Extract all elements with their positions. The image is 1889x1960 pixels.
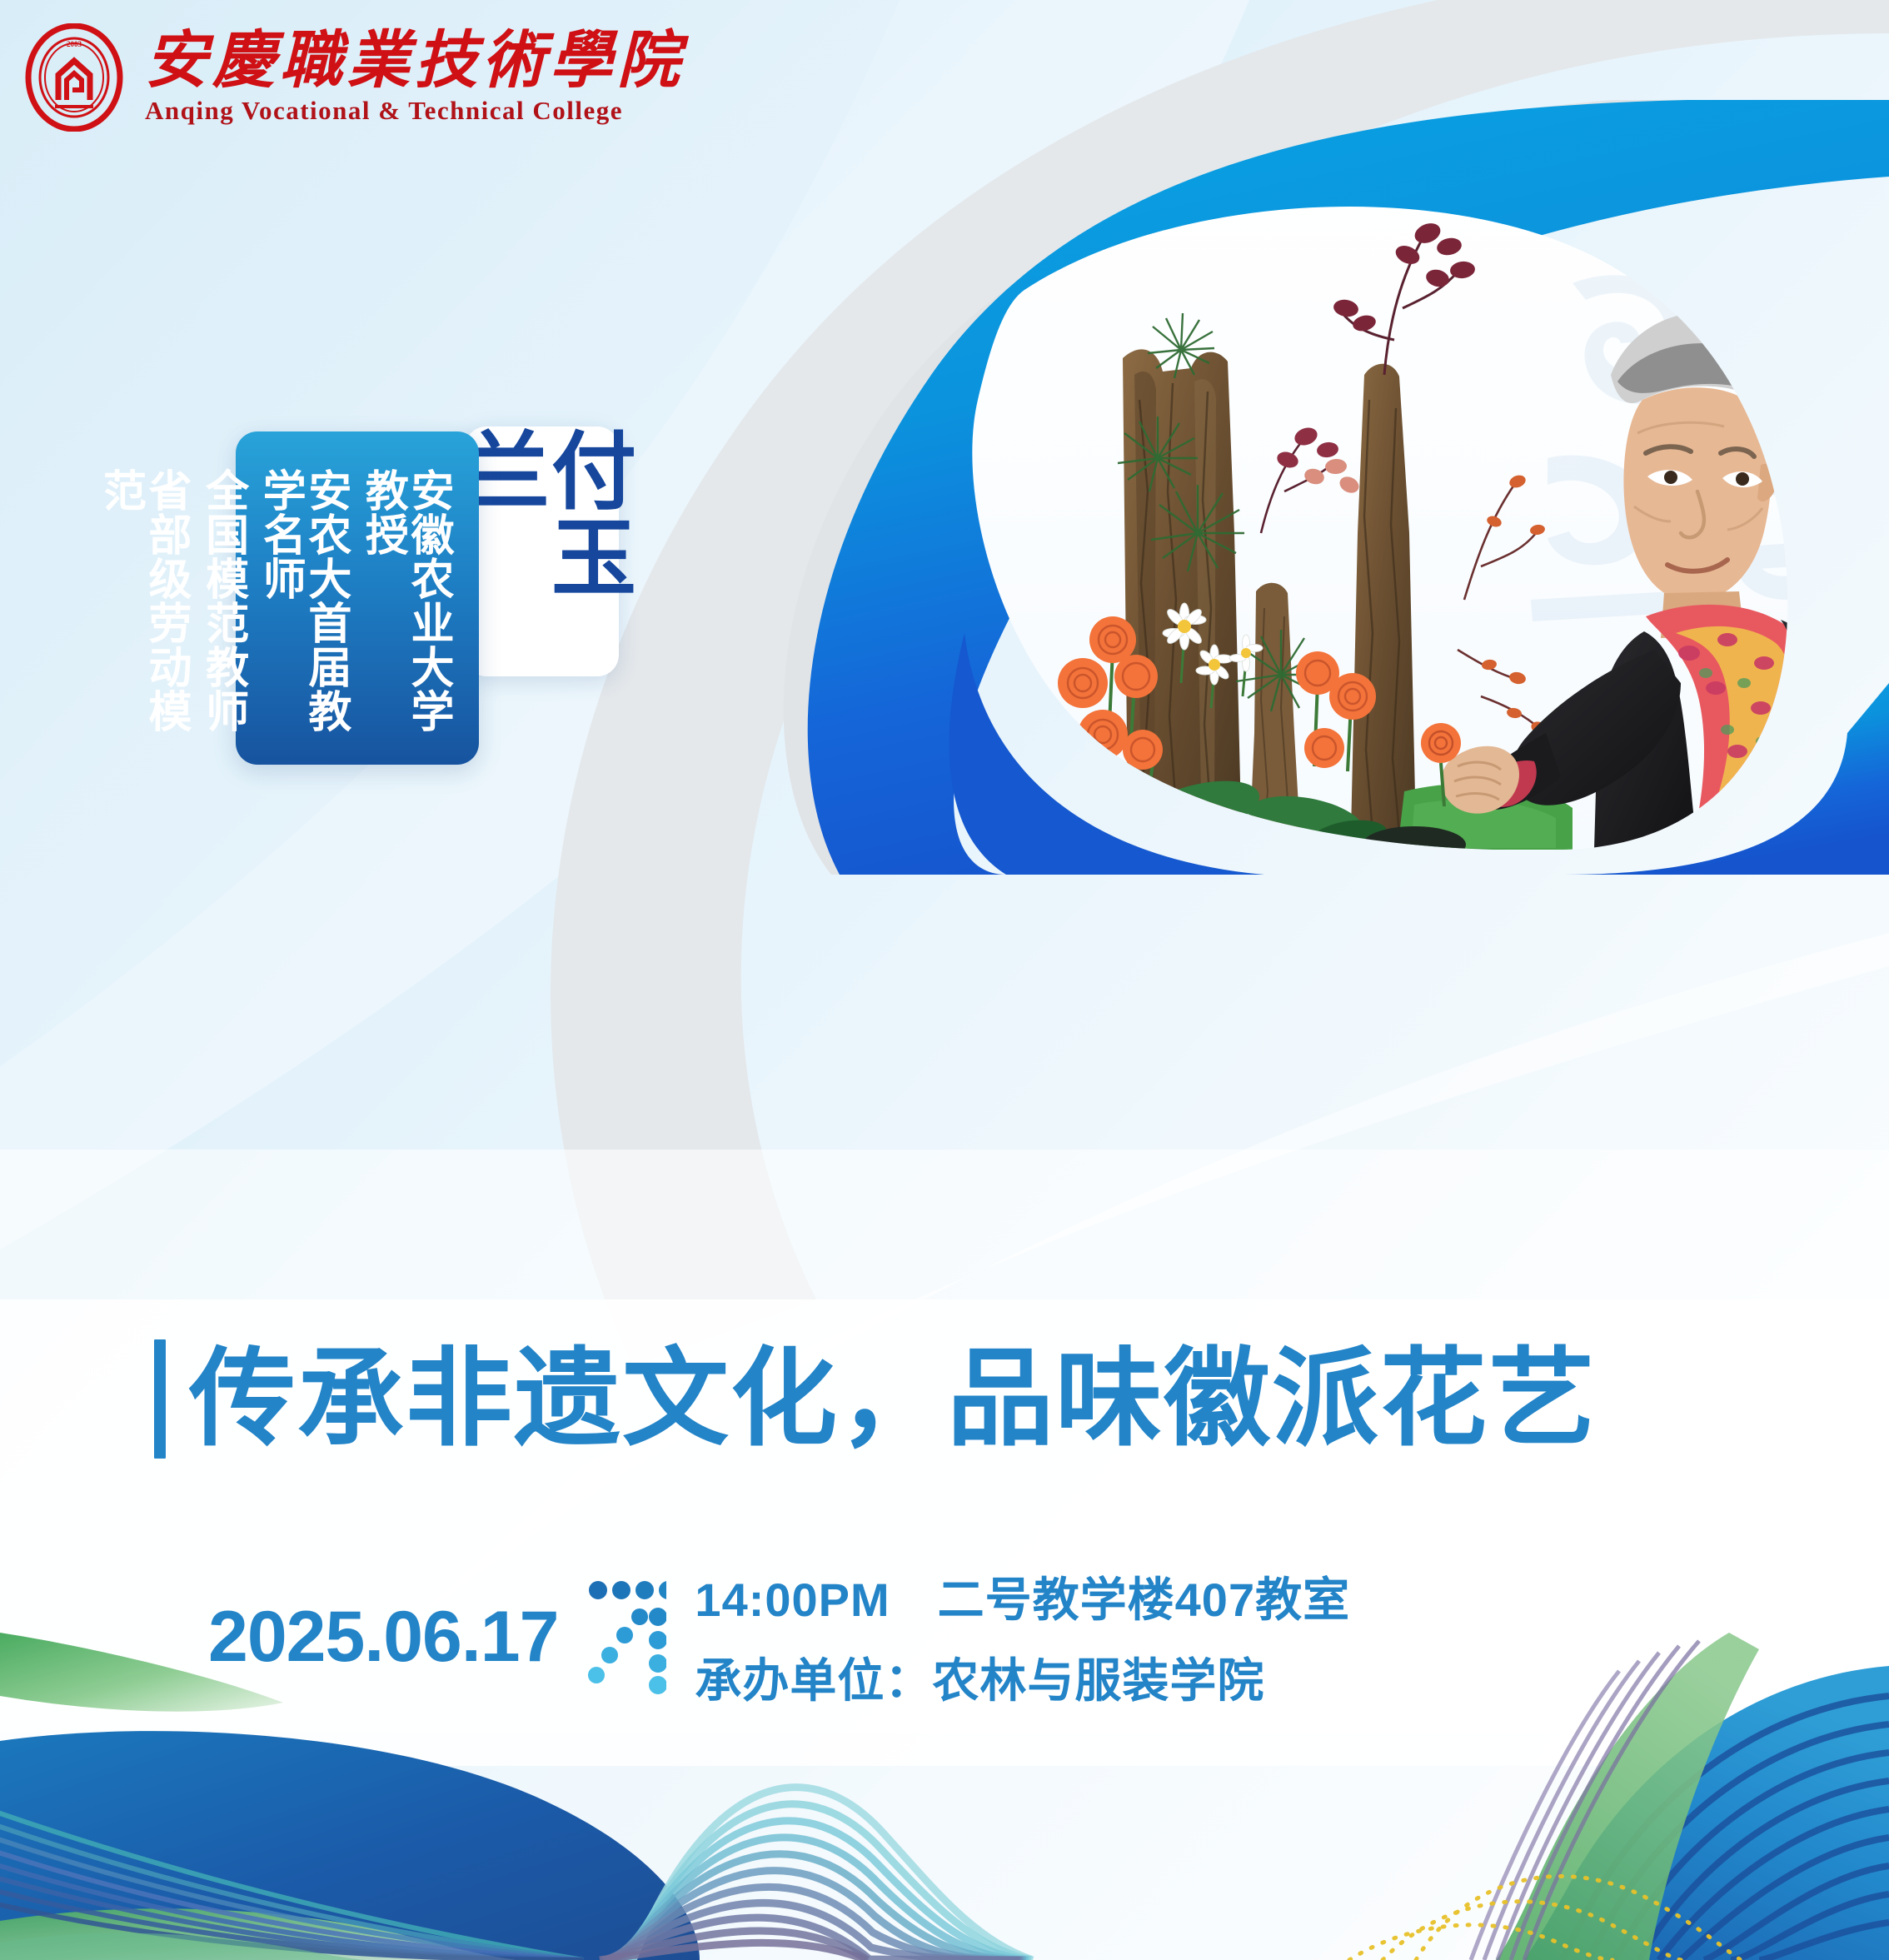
credential-line-4: 省部级劳动模范	[97, 468, 188, 764]
credential-line-1: 安徽农业大学教授	[360, 468, 451, 764]
main-title-row: 传承非遗文化，品味徽派花艺	[154, 1339, 1597, 1459]
speaker-photo-block	[731, 100, 1889, 875]
speaker-name: 付玉兰	[455, 426, 628, 676]
speaker-credentials-card: 安徽农业大学教授 安农大首届教学名师 全国模范教师 省部级劳动模范	[236, 431, 479, 765]
dot-pattern-icon	[586, 1578, 666, 1695]
event-info-lines: 14:00PM 二号教学楼407教室 承办单位：农林与服装学院	[695, 1563, 1350, 1711]
page-title: 传承非遗文化，品味徽派花艺	[189, 1339, 1597, 1459]
school-name-en: Anqing Vocational & Technical College	[145, 96, 685, 126]
speaker-photo-oval	[731, 100, 1889, 875]
school-name-cn: 安慶職業技術學院	[145, 30, 685, 92]
college-seal-logo: 2003	[25, 23, 123, 132]
event-date: 2025.06.17	[208, 1596, 558, 1678]
title-accent-bar	[154, 1339, 166, 1459]
event-time-location: 14:00PM 二号教学楼407教室	[695, 1563, 1350, 1630]
brand-header: 2003 安慶職業技術學院 Anqing Vocational & Techni…	[25, 23, 685, 132]
credential-line-2: 安农大首届教学名师	[257, 468, 348, 764]
poster-root: 2003 安慶職業技術學院 Anqing Vocational & Techni…	[0, 0, 1889, 1960]
svg-text:2003: 2003	[67, 40, 82, 48]
event-info-row: 2025.06.17 14:00PM 二号教学楼407教室 承办单位：农林与服装…	[208, 1563, 1350, 1711]
school-name-block: 安慶職業技術學院 Anqing Vocational & Technical C…	[145, 30, 685, 126]
event-organizer: 承办单位：农林与服装学院	[695, 1643, 1350, 1711]
credential-line-3: 全国模范教师	[200, 468, 246, 764]
speaker-name-card: 付玉兰	[465, 426, 619, 676]
